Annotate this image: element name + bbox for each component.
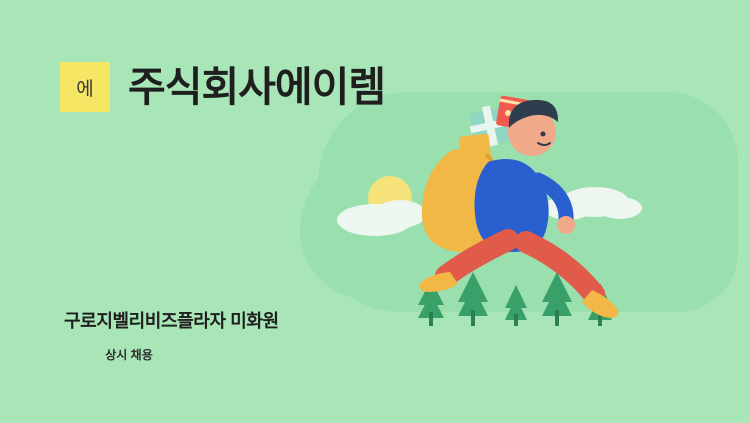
job-status-badge: 상시 채용 (64, 346, 194, 363)
job-info: 구로지벨리비즈플라자 미화원 상시 채용 (64, 307, 279, 363)
company-badge: 에 (60, 62, 110, 112)
job-posting-card: 에 주식회사에이렘 구로지벨리비즈플라자 미화원 상시 채용 (0, 0, 750, 423)
brand-header: 에 주식회사에이렘 (60, 62, 385, 112)
company-name: 주식회사에이렘 (128, 67, 385, 108)
running-person-illustration (300, 80, 750, 380)
job-location: 구로지벨리비즈플라자 미화원 (64, 307, 279, 333)
